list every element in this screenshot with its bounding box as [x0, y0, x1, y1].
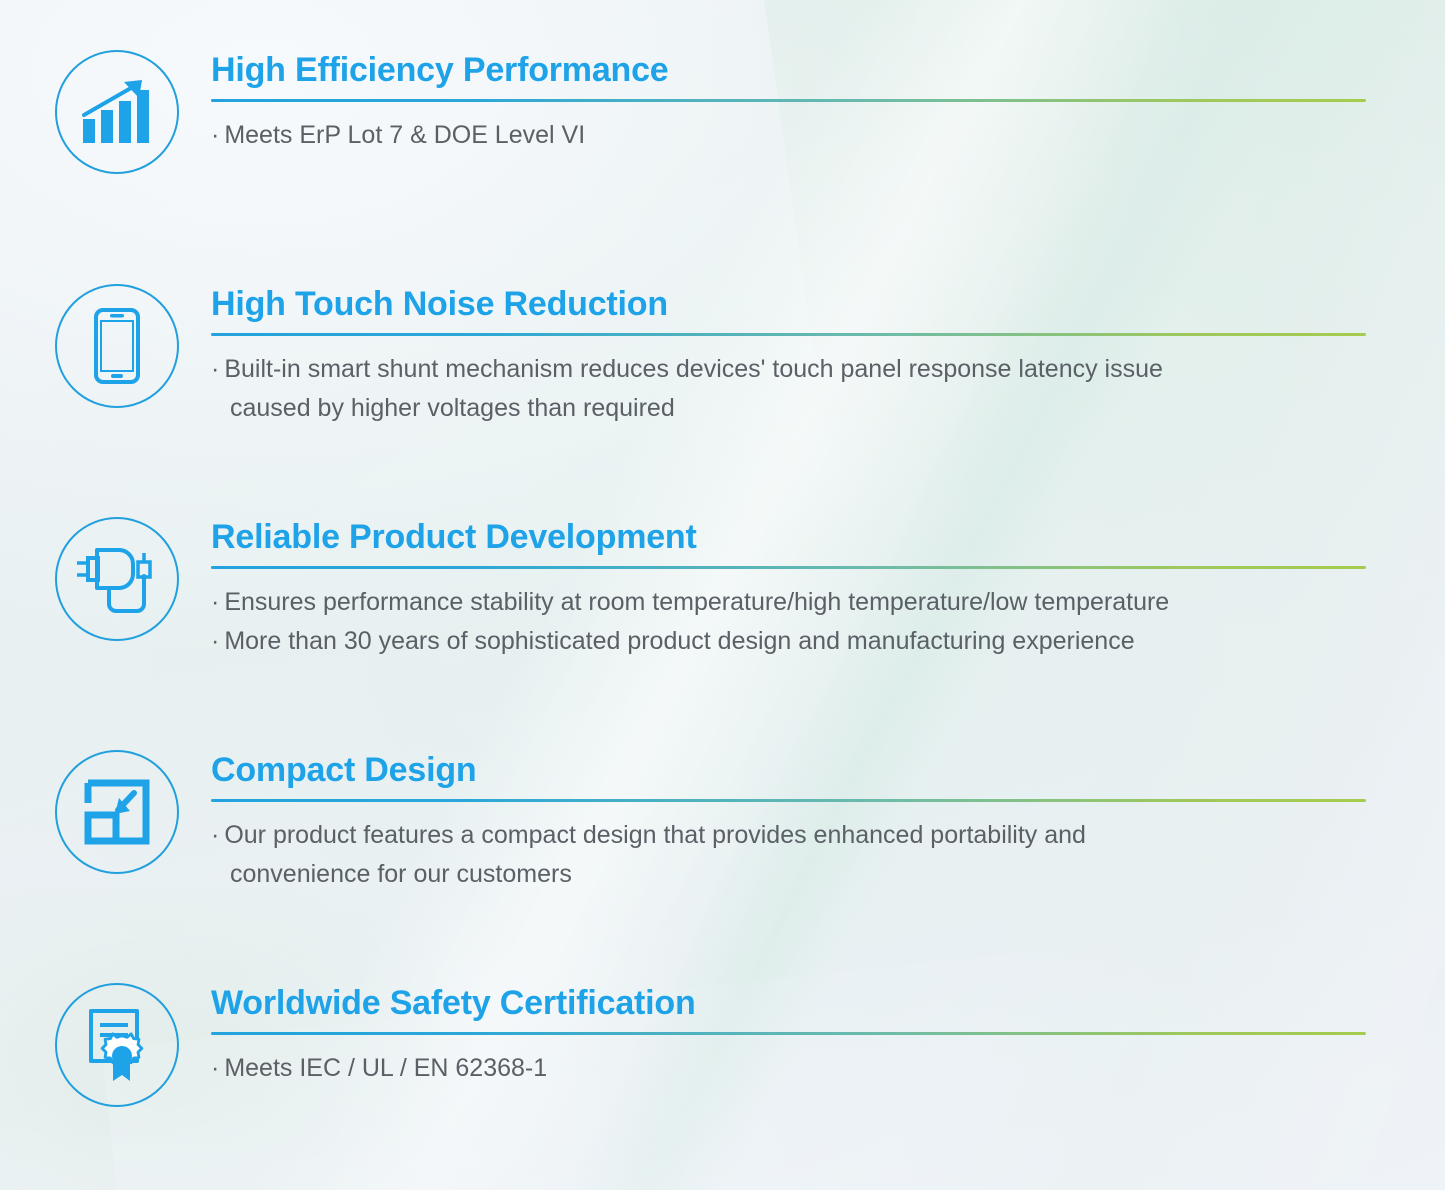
feature-body: Worldwide Safety Certification ·Meets IE… [211, 983, 1366, 1088]
feature-title: High Touch Noise Reduction [211, 284, 1366, 324]
certificate-award-icon [55, 983, 179, 1107]
feature-title: Worldwide Safety Certification [211, 983, 1366, 1023]
feature-description: ·Ensures performance stability at room t… [211, 583, 1366, 661]
power-adapter-icon [55, 517, 179, 641]
bullet-text: Ensures performance stability at room te… [224, 588, 1169, 616]
feature-divider [211, 99, 1366, 102]
feature-title: High Efficiency Performance [211, 50, 1366, 90]
bar-chart-growth-icon [55, 50, 179, 174]
bullet-line: ·Built-in smart shunt mechanism reduces … [211, 350, 1366, 389]
bullet-text: caused by higher voltages than required [230, 394, 675, 422]
bullet-line: ·Our product features a compact design t… [211, 816, 1366, 855]
bullet-text: More than 30 years of sophisticated prod… [224, 627, 1134, 655]
feature-body: Compact Design ·Our product features a c… [211, 750, 1366, 894]
bullet-line-continuation: convenience for our customers [211, 855, 1366, 894]
bullet-text: Meets ErP Lot 7 & DOE Level VI [224, 121, 585, 149]
feature-description: ·Meets ErP Lot 7 & DOE Level VI [211, 116, 1366, 155]
feature-divider [211, 333, 1366, 336]
bullet-dot: · [211, 121, 219, 149]
bullet-line: ·More than 30 years of sophisticated pro… [211, 622, 1366, 661]
feature-description: ·Meets IEC / UL / EN 62368-1 [211, 1049, 1366, 1088]
bullet-dot: · [211, 821, 219, 849]
feature-divider [211, 1032, 1366, 1035]
bullet-text: Meets IEC / UL / EN 62368-1 [224, 1054, 547, 1082]
bullet-dot: · [211, 355, 219, 383]
bullet-dot: · [211, 627, 219, 655]
feature-body: High Touch Noise Reduction ·Built-in sma… [211, 284, 1366, 428]
smartphone-icon [55, 284, 179, 408]
compact-resize-icon [55, 750, 179, 874]
feature-divider [211, 566, 1366, 569]
feature-highlights-page: High Efficiency Performance ·Meets ErP L… [0, 0, 1445, 1190]
bullet-line: ·Ensures performance stability at room t… [211, 583, 1366, 622]
bullet-text: Our product features a compact design th… [224, 821, 1086, 849]
feature-description: ·Our product features a compact design t… [211, 816, 1366, 894]
feature-divider [211, 799, 1366, 802]
bullet-line: ·Meets ErP Lot 7 & DOE Level VI [211, 116, 1366, 155]
feature-description: ·Built-in smart shunt mechanism reduces … [211, 350, 1366, 428]
feature-list: High Efficiency Performance ·Meets ErP L… [0, 0, 1445, 1190]
bullet-dot: · [211, 1054, 219, 1082]
bullet-dot: · [211, 588, 219, 616]
feature-title: Compact Design [211, 750, 1366, 790]
bullet-line: ·Meets IEC / UL / EN 62368-1 [211, 1049, 1366, 1088]
feature-body: Reliable Product Development ·Ensures pe… [211, 517, 1366, 661]
feature-title: Reliable Product Development [211, 517, 1366, 557]
feature-body: High Efficiency Performance ·Meets ErP L… [211, 50, 1366, 155]
bullet-text: convenience for our customers [230, 860, 572, 888]
bullet-line-continuation: caused by higher voltages than required [211, 389, 1366, 428]
bullet-text: Built-in smart shunt mechanism reduces d… [224, 355, 1163, 383]
